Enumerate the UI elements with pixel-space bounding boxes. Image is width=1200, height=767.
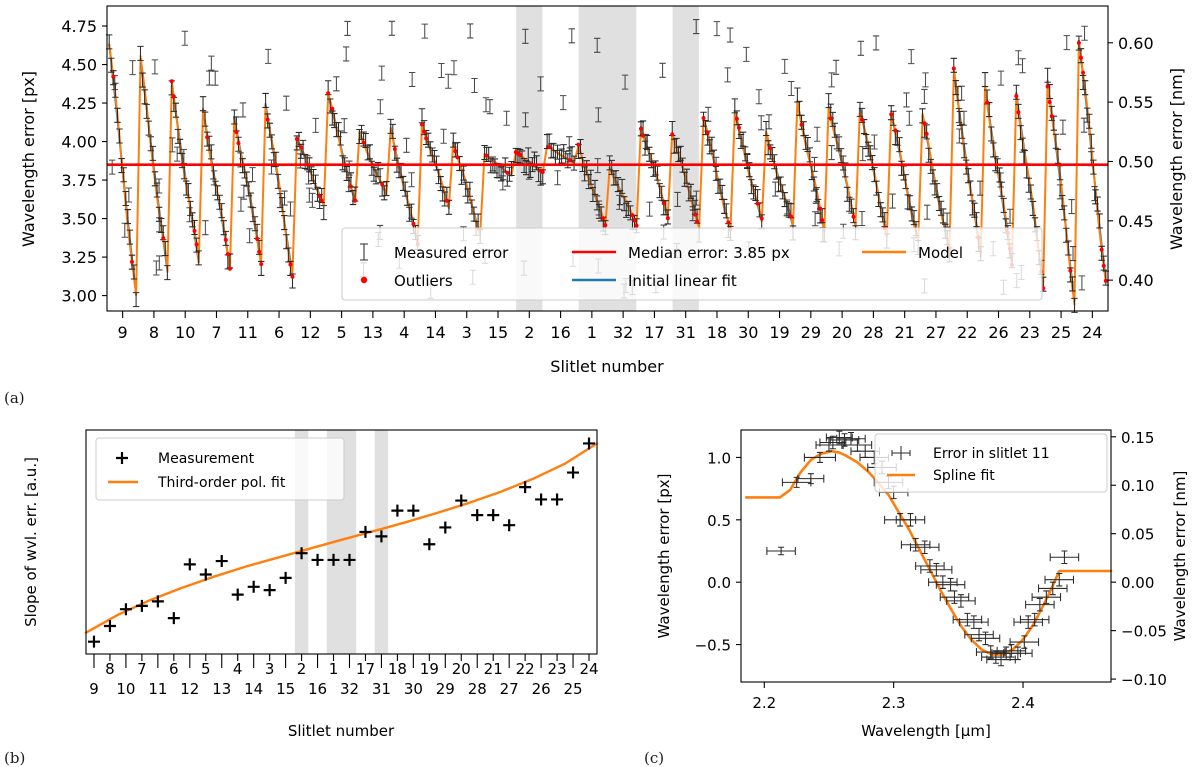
x-tick-label: 14	[425, 323, 445, 342]
model-sawtooth-return	[918, 117, 922, 242]
measured-error-bar	[906, 111, 912, 125]
outlier-point	[172, 95, 176, 99]
measurement-marker	[359, 526, 371, 538]
x-tick-label: 3	[462, 323, 472, 342]
measured-error-bar	[143, 104, 149, 118]
measured-error-bar	[724, 68, 730, 82]
model-sawtooth-return	[261, 103, 265, 260]
x-tick-label: 11	[238, 323, 258, 342]
measured-error-bar	[743, 47, 749, 61]
outlier-point	[353, 198, 357, 202]
outlier-point	[1014, 94, 1018, 98]
measurement-marker	[280, 572, 292, 584]
measured-error-bar	[287, 202, 293, 216]
y-tick-label-left: 1.0	[707, 449, 731, 467]
outlier-point	[735, 117, 739, 121]
measured-error-bar	[249, 168, 255, 182]
measured-error-bar	[922, 73, 928, 87]
measured-error-bar	[153, 261, 159, 275]
measured-error-bar	[889, 194, 895, 208]
outlier-point	[257, 250, 261, 254]
measured-error-bar	[262, 93, 268, 107]
panel-a-wavelength-error: 3.003.253.503.754.004.254.504.75 0.400.4…	[0, 0, 1200, 395]
y-tick-label-left: 0.5	[707, 512, 731, 530]
measured-error-bar	[1063, 228, 1069, 242]
model-sawtooth-return	[668, 132, 672, 215]
y-tick-label-right: 0.05	[1121, 526, 1154, 544]
x-tick-label-upper: 17	[356, 660, 375, 678]
outlier-point	[639, 127, 643, 131]
outlier-point	[411, 222, 415, 226]
legend-label-measured-error: Measured error	[394, 244, 509, 262]
measurement-marker	[407, 505, 419, 517]
model-sawtooth-return	[136, 61, 140, 295]
x-tick-label: 5	[337, 323, 347, 342]
measured-error-bar	[164, 266, 170, 280]
x-tick-label-lower: 16	[308, 680, 327, 698]
measurement-marker	[391, 505, 403, 517]
legend-label-spline-fit: Spline fit	[933, 468, 995, 484]
model-sawtooth-return	[230, 117, 234, 268]
x-tick-label: 13	[363, 323, 383, 342]
x-tick-label: 25	[1051, 323, 1071, 342]
y-tick-label-right: 0.00	[1121, 574, 1154, 592]
y-tick-label-right: 0.60	[1118, 34, 1154, 53]
measured-error-bar	[756, 90, 762, 104]
outlier-point	[362, 141, 366, 145]
outlier-point	[1102, 264, 1106, 268]
x-tick-label-upper: 23	[548, 660, 567, 678]
panel-b-svg: 8765432117181920212223249101112131415163…	[0, 418, 640, 765]
outlier-point	[662, 201, 666, 205]
measured-error-bar	[859, 212, 865, 226]
measurement-marker	[88, 636, 100, 648]
x-tick-label: 4	[399, 323, 409, 342]
panel-a-ylabel-left: Wavelength error [px]	[19, 71, 38, 247]
measured-error-bar	[924, 205, 930, 219]
outlier-point	[541, 170, 545, 174]
model-sawtooth-return	[637, 126, 641, 225]
x-tick-label-upper: 24	[579, 660, 598, 678]
measured-error-bar	[908, 50, 914, 64]
x-tick-label: 1	[587, 323, 597, 342]
outlier-point	[1016, 110, 1020, 114]
outlier-point	[756, 202, 760, 206]
measured-error-bar	[1064, 36, 1070, 50]
x-tick-label-lower: 11	[148, 680, 167, 698]
y-tick-label-left: 3.25	[61, 248, 97, 267]
measurement-marker	[168, 612, 180, 624]
outlier-point	[818, 206, 822, 210]
figure-root: 3.003.253.503.754.004.254.504.75 0.400.4…	[0, 0, 1200, 765]
measured-error-bar	[1060, 120, 1066, 134]
outlier-point	[455, 155, 459, 159]
measured-error-bar	[343, 47, 349, 61]
x-tick-label-lower: 31	[372, 680, 391, 698]
panel-a-yaxis-right: 0.400.450.500.550.60	[1108, 34, 1154, 290]
measured-error-bar	[114, 108, 120, 122]
panel-a-xaxis: 9810711612513414315216132173118301929202…	[118, 311, 1103, 342]
measured-error-bar	[873, 36, 879, 50]
measured-error-bar	[921, 89, 927, 103]
x-tick-label-lower: 15	[276, 680, 295, 698]
x-tick-label: 29	[801, 323, 821, 342]
legend-label-model: Model	[918, 244, 963, 262]
x-tick-label: 15	[488, 323, 508, 342]
y-tick-label-right: 0.10	[1121, 477, 1154, 495]
x-tick-label-lower: 13	[212, 680, 231, 698]
legend-dot-icon	[361, 277, 367, 283]
measured-error-bar	[1081, 26, 1087, 40]
measurement-marker	[216, 555, 228, 567]
measured-error-bar	[156, 256, 162, 270]
outlier-point	[706, 131, 710, 135]
measured-error-bar	[727, 28, 733, 42]
panel-tag-b: (b)	[4, 749, 25, 767]
x-tick-label: 10	[175, 323, 195, 342]
y-tick-label-left: −0.5	[695, 637, 731, 655]
x-tick-label: 27	[926, 323, 946, 342]
measured-error-bar	[982, 73, 988, 87]
x-tick-label-lower: 10	[116, 680, 135, 698]
measured-error-bar	[440, 129, 446, 143]
x-tick-label-upper: 18	[388, 660, 407, 678]
outlier-point	[330, 107, 334, 111]
y-tick-label-right: 0.55	[1118, 93, 1154, 112]
outlier-point	[820, 218, 824, 222]
measured-error-bar	[409, 72, 415, 86]
y-tick-label-right: 0.15	[1121, 429, 1154, 447]
measurement-marker	[535, 493, 547, 505]
outlier-point	[702, 116, 706, 120]
measured-error-bar	[871, 135, 877, 149]
measured-error-bar	[758, 116, 764, 130]
x-tick-label-upper: 3	[265, 660, 275, 678]
measured-error-bar	[146, 121, 152, 135]
x-tick-label-upper: 8	[105, 660, 115, 678]
outlier-point	[860, 118, 864, 122]
outlier-point	[420, 122, 424, 126]
panel-c-yaxis-left: −0.50.00.51.0	[695, 449, 741, 654]
x-tick-label-upper: 21	[484, 660, 503, 678]
outlier-point	[893, 129, 897, 133]
measured-error-bar	[265, 49, 271, 63]
measured-error-bar	[659, 63, 665, 77]
measured-error-bar	[133, 293, 139, 307]
measured-error-bar	[123, 192, 129, 206]
y-tick-label-right: 0.45	[1118, 212, 1154, 231]
outlier-point	[568, 158, 572, 162]
measured-error-bar	[858, 41, 864, 55]
x-tick-label-lower: 12	[180, 680, 199, 698]
outlier-point	[445, 199, 449, 203]
panel-a-xlabel: Slitlet number	[550, 357, 664, 376]
measured-error-bar	[200, 97, 206, 111]
measurement-marker	[312, 554, 324, 566]
measurement-marker	[439, 521, 451, 533]
measurement-marker	[423, 538, 435, 550]
panel-b-xaxis: 8765432117181920212223249101112131415163…	[89, 654, 598, 698]
panel-c-xaxis: 2.22.32.4	[752, 682, 1035, 712]
model-sawtooth-return	[355, 134, 359, 203]
x-tick-label: 17	[644, 323, 664, 342]
measured-error-bar	[646, 202, 652, 216]
measured-error-bar	[422, 24, 428, 38]
measured-error-bar	[212, 71, 218, 85]
x-tick-label: 9	[118, 323, 128, 342]
outlier-point	[288, 263, 292, 267]
panel-c-legend[interactable]: Error in slitlet 11Spline fit	[875, 434, 1107, 492]
measured-error-bar	[833, 60, 839, 74]
panel-c-slitlet-error: −0.50.00.51.0 −0.10−0.050.000.050.100.15…	[640, 418, 1200, 765]
measured-error-bar	[240, 103, 246, 117]
y-tick-label-right: 0.50	[1118, 152, 1154, 171]
measured-error-bar	[554, 171, 560, 185]
measurement-marker	[264, 584, 276, 596]
outlier-point	[320, 199, 324, 203]
outlier-point	[259, 262, 263, 266]
outlier-point	[603, 223, 607, 227]
x-tick-label: 19	[769, 323, 789, 342]
outlier-point	[851, 215, 855, 219]
outlier-point	[205, 135, 209, 139]
measured-error-bar	[957, 111, 963, 125]
y-tick-label-left: 4.25	[61, 94, 97, 113]
legend-label-error-in-slitlet: Error in slitlet 11	[933, 446, 1050, 462]
x-tick-label: 28	[863, 323, 883, 342]
outlier-point	[1081, 71, 1085, 75]
x-tick-label-upper: 7	[137, 660, 147, 678]
outlier-point	[130, 260, 134, 264]
measured-error-bar	[794, 88, 800, 102]
x-tick-label-lower: 26	[532, 680, 551, 698]
measured-error-bar	[202, 221, 208, 235]
outlier-point	[224, 238, 228, 242]
measured-error-bar	[903, 93, 909, 107]
panel-tag-a: (a)	[4, 389, 25, 407]
outlier-point	[829, 117, 833, 121]
measured-error-bar	[281, 216, 287, 230]
measured-error-bar	[344, 21, 350, 35]
measured-error-bar	[379, 66, 385, 80]
outlier-point	[768, 146, 772, 150]
measured-error-bar	[788, 81, 794, 95]
measured-error-bar	[408, 173, 414, 187]
panel-b-ylabel: Slope of wvl. err. [a.u.]	[22, 457, 40, 627]
measured-error-bar	[129, 61, 135, 75]
outlier-point	[985, 101, 989, 105]
outlier-point	[299, 145, 303, 149]
outlier-point	[266, 118, 270, 122]
measured-error-bar	[1081, 118, 1087, 132]
outlier-point	[925, 132, 929, 136]
model-sawtooth-return	[824, 106, 828, 231]
outlier-point	[393, 147, 397, 151]
x-tick-label: 2.4	[1011, 694, 1035, 712]
panel-b-slope: 8765432117181920212223249101112131415163…	[0, 418, 640, 765]
measured-error-bar	[1019, 59, 1025, 73]
x-tick-label: 31	[676, 323, 696, 342]
model-sawtooth-return	[887, 114, 891, 234]
outlier-point	[693, 213, 697, 217]
measurement-marker	[487, 509, 499, 521]
outlier-point	[195, 242, 199, 246]
measured-error-bar	[705, 107, 711, 121]
legend-label-measurement: Measurement	[158, 451, 255, 467]
outlier-point	[635, 224, 639, 228]
measured-error-bar	[109, 160, 115, 174]
x-tick-label-upper: 2	[297, 660, 307, 678]
x-tick-label: 21	[894, 323, 914, 342]
measured-error-bar	[182, 31, 188, 45]
x-tick-label-upper: 5	[201, 660, 211, 678]
measured-error-bar	[569, 29, 575, 43]
measured-error-bar	[560, 96, 566, 110]
x-tick-label-upper: 4	[233, 660, 243, 678]
measured-error-bar	[403, 138, 409, 152]
outlier-point	[633, 219, 637, 223]
outlier-point	[889, 112, 893, 116]
outlier-point	[789, 215, 793, 219]
legend-label-third-order-pol-fit: Third-order pol. fit	[157, 475, 286, 491]
outlier-point	[670, 132, 674, 136]
y-tick-label-right: −0.10	[1121, 671, 1167, 689]
outlier-point	[800, 123, 804, 127]
panel-a-legend[interactable]: Measured errorOutliersMedian error: 3.85…	[342, 228, 1042, 300]
x-tick-label-upper: 20	[452, 660, 471, 678]
outlier-point	[1104, 279, 1108, 283]
measured-error-bar	[208, 56, 214, 70]
outlier-point	[505, 171, 509, 175]
y-tick-label-left: 4.00	[61, 133, 97, 152]
model-sawtooth-return	[762, 134, 766, 222]
outlier-point	[630, 213, 634, 217]
outlier-point	[318, 194, 322, 198]
measured-error-bar	[333, 77, 339, 91]
x-tick-label: 2.3	[882, 694, 906, 712]
outlier-point	[236, 141, 240, 145]
model-sawtooth-return	[199, 109, 203, 263]
measured-error-bar	[389, 21, 395, 35]
outlier-point	[380, 182, 384, 186]
x-tick-label-lower: 29	[436, 680, 455, 698]
x-tick-label: 30	[738, 323, 758, 342]
measured-error-bar	[467, 24, 473, 38]
model-sawtooth-return	[449, 142, 453, 207]
measured-error-bar	[306, 188, 312, 202]
outlier-point	[695, 220, 699, 224]
outlier-point	[161, 236, 165, 240]
x-tick-label-lower: 32	[340, 680, 359, 698]
outlier-point	[547, 145, 551, 149]
measured-error-bar	[782, 59, 788, 73]
panel-c-yaxis-right: −0.10−0.050.000.050.100.15	[1111, 429, 1167, 689]
measured-error-bar	[438, 64, 444, 78]
outlier-point	[255, 237, 259, 241]
outlier-point	[1048, 100, 1052, 104]
outlier-point	[1077, 41, 1081, 45]
measured-error-bar	[377, 100, 383, 114]
measured-error-bar	[206, 71, 212, 85]
panel-c-ylabel-left: Wavelength error [px]	[655, 474, 673, 639]
measurement-marker	[551, 493, 563, 505]
model-sawtooth-return	[543, 146, 547, 172]
x-tick-label: 22	[957, 323, 977, 342]
outlier-point	[641, 134, 645, 138]
outlier-point	[453, 149, 457, 153]
outlier-point	[290, 275, 294, 279]
outlier-point	[1050, 114, 1054, 118]
outlier-point	[1079, 56, 1083, 60]
panel-b-legend[interactable]: MeasurementThird-order pol. fit	[96, 438, 344, 500]
outlier-point	[737, 126, 741, 130]
measured-error-bar	[321, 206, 327, 220]
model-sawtooth-return	[418, 123, 422, 245]
outlier-point	[923, 121, 927, 125]
measurement-marker	[184, 558, 196, 570]
x-tick-label: 18	[707, 323, 727, 342]
model-sawtooth-return	[949, 74, 953, 253]
outlier-point	[760, 216, 764, 220]
measured-error-bar	[451, 61, 457, 75]
y-tick-label-left: 4.50	[61, 56, 97, 75]
model-sawtooth-return	[292, 138, 296, 272]
outlier-point	[1046, 84, 1050, 88]
outlier-point	[1068, 269, 1072, 273]
outlier-point	[576, 143, 580, 147]
measured-error-bar	[714, 22, 720, 36]
outlier-point	[193, 229, 197, 233]
x-tick-label-lower: 14	[244, 680, 263, 698]
x-tick-label: 26	[988, 323, 1008, 342]
outlier-point	[170, 79, 174, 83]
measured-error-bar	[1071, 298, 1077, 312]
panel-c-xlabel: Wavelength [μm]	[861, 722, 991, 740]
y-tick-label-left: 4.75	[61, 17, 97, 36]
outlier-point	[295, 137, 299, 141]
panel-a-ylabel-right: Wavelength error [nm]	[1167, 68, 1186, 250]
measured-error-bar	[828, 146, 834, 160]
x-tick-label: 16	[550, 323, 570, 342]
x-tick-label: 6	[274, 323, 284, 342]
x-tick-label-lower: 9	[89, 680, 99, 698]
outlier-point	[226, 252, 230, 256]
x-tick-label: 2.2	[752, 694, 776, 712]
x-tick-label: 20	[832, 323, 852, 342]
model-sawtooth-return	[167, 86, 171, 272]
panel-b-xlabel: Slitlet number	[288, 722, 395, 740]
outlier-point	[1100, 248, 1104, 252]
measured-error-bar	[312, 118, 318, 132]
outlier-point	[422, 130, 426, 134]
y-tick-label-left: 3.75	[61, 171, 97, 190]
panel-tag-c: (c)	[644, 749, 664, 767]
measured-error-bar	[1068, 200, 1074, 214]
outlier-point	[349, 185, 353, 189]
panel-c-svg: −0.50.00.51.0 −0.10−0.050.000.050.100.15…	[640, 418, 1200, 765]
measured-error-bar	[1065, 241, 1071, 255]
measurement-marker	[583, 437, 595, 449]
outlier-point	[726, 220, 730, 224]
y-tick-label-left: 3.00	[61, 287, 97, 306]
panel-a-yaxis-left: 3.003.253.503.754.004.254.504.75	[61, 17, 107, 306]
x-tick-label-upper: 19	[420, 660, 439, 678]
y-tick-label-right: 0.40	[1118, 271, 1154, 290]
measured-error-bar	[471, 78, 477, 92]
measured-error-bar	[137, 46, 143, 60]
outlier-point	[326, 91, 330, 95]
measured-error-bar	[152, 60, 158, 74]
